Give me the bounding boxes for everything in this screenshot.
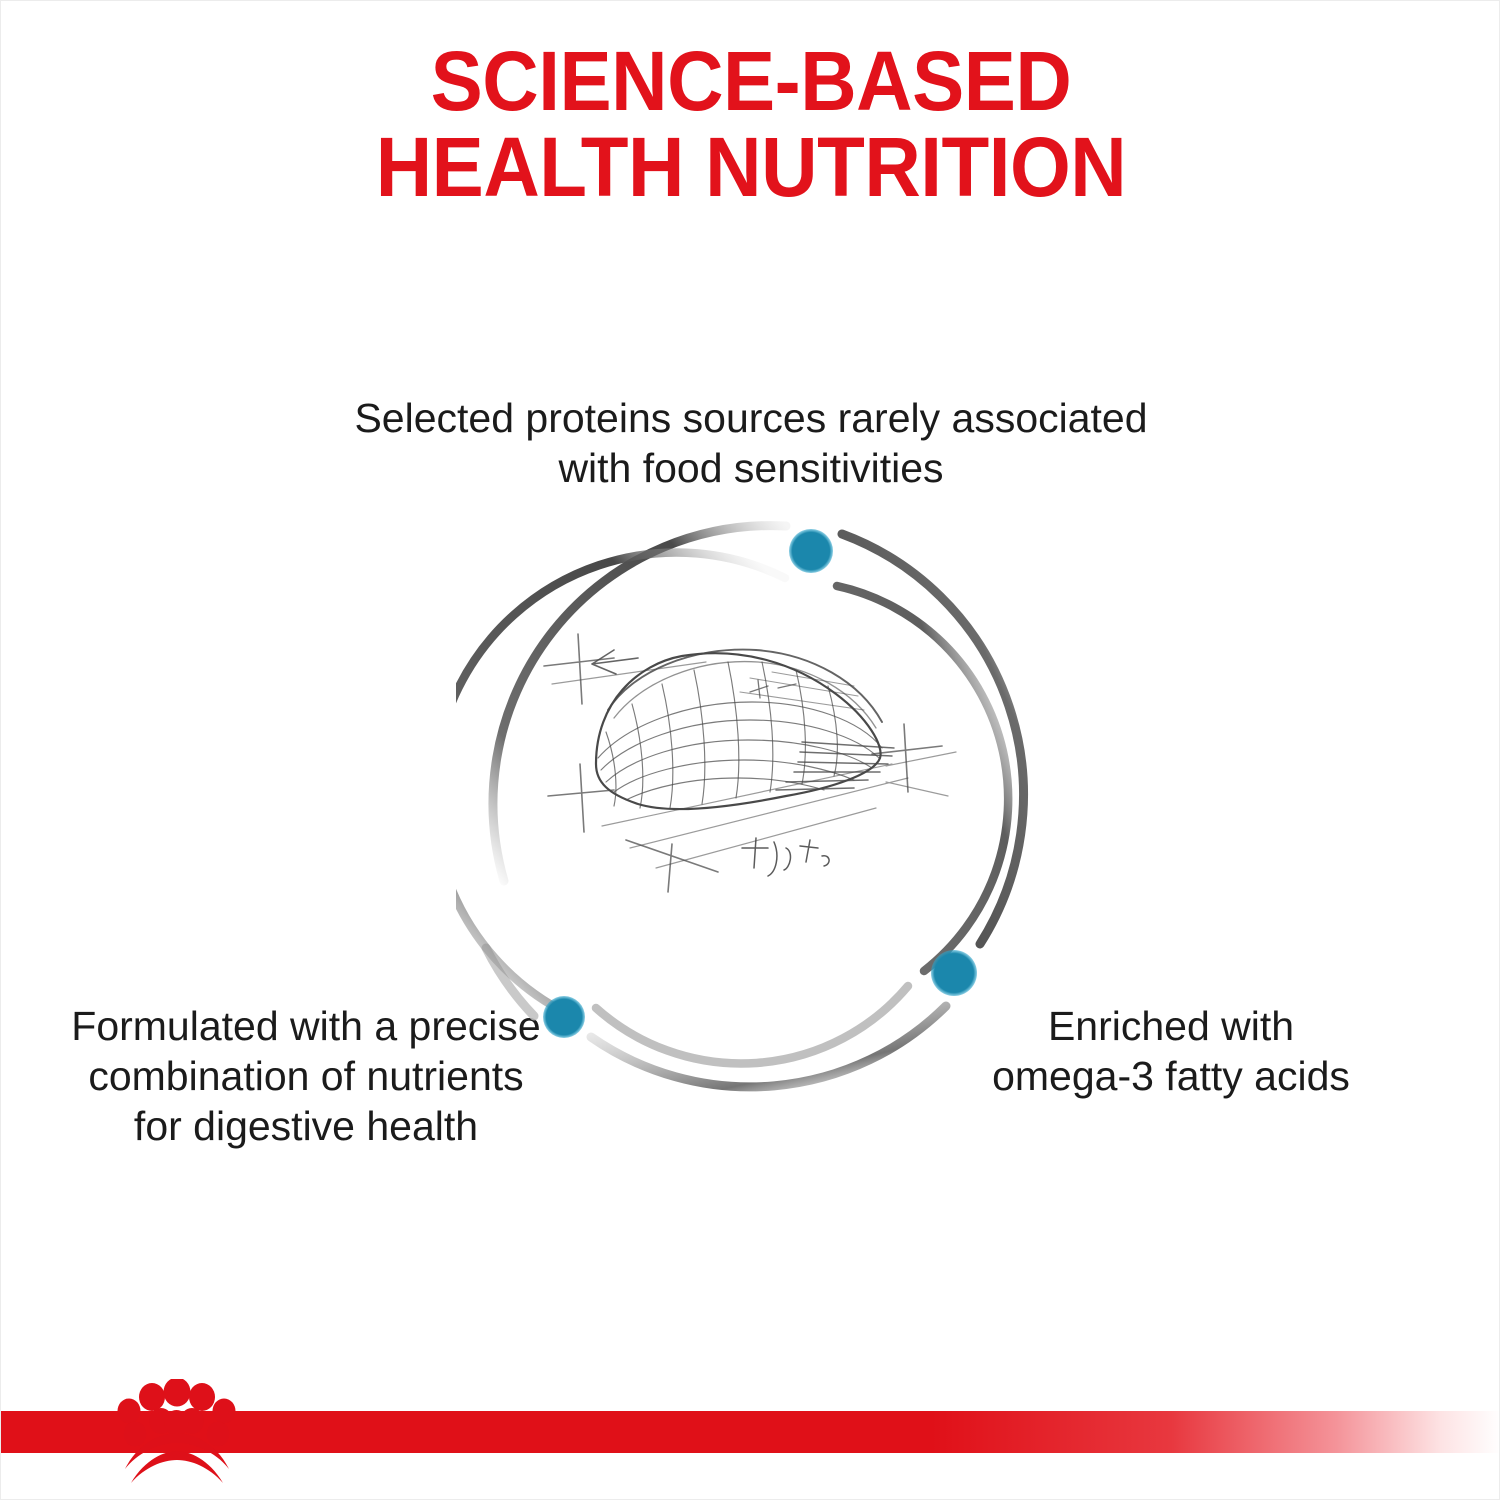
footer (1, 1379, 1500, 1499)
product-feature-panel: SCIENCE-BASED HEALTH NUTRITION Selected … (0, 0, 1500, 1500)
kibble-sketch-graphic (456, 496, 1056, 1096)
royal-canin-logo (109, 1379, 241, 1499)
marker-dot-bottom-left (543, 996, 585, 1038)
inner-ring-arcs (456, 553, 1008, 1064)
page-title-line-2: HEALTH NUTRITION (54, 125, 1449, 211)
feature-text-selected-proteins: Selected proteins sources rarely associa… (331, 393, 1171, 493)
page-title-line-1: SCIENCE-BASED (54, 39, 1449, 125)
marker-dot-top (789, 529, 833, 573)
crown-icon (118, 1379, 236, 1483)
marker-dot-right (931, 950, 977, 996)
page-title: SCIENCE-BASED HEALTH NUTRITION (54, 39, 1449, 210)
kibble-sketch (544, 634, 956, 892)
